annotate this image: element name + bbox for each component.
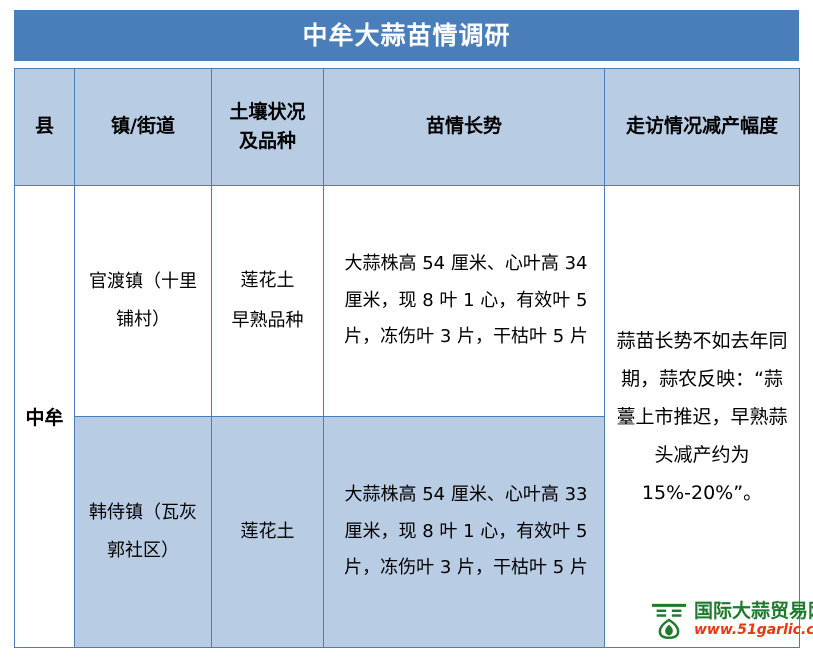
soil-type-label: 莲花土 [216,261,319,302]
column-header-county: 县 [15,69,75,186]
growth-description-text: 大蒜株高 54 厘米、心叶高 33 厘米，现 8 叶 1 心，有效叶 5 片，冻… [344,484,588,579]
table-row: 中牟 官渡镇（十里铺村） 莲花土 早熟品种 大蒜株高 54 厘米、心叶高 34 … [15,186,800,417]
page-title-bar: 中牟大蒜苗情调研 [14,10,799,61]
cell-county-zhongmou: 中牟 [15,186,75,648]
town-name-label: 韩侍镇（瓦灰郭社区） [89,502,197,561]
table-header-row: 县 镇/街道 土壤状况 及品种 苗情长势 走访情况减产幅度 [15,69,800,186]
column-header-growth-label: 苗情长势 [426,115,502,137]
column-header-loss-label: 走访情况减产幅度 [626,115,778,137]
cell-growth-row1: 大蒜株高 54 厘米、心叶高 34 厘米，现 8 叶 1 心，有效叶 5 片，冻… [324,186,605,417]
cell-town-row1: 官渡镇（十里铺村） [75,186,212,417]
garlic-survey-table: 县 镇/街道 土壤状况 及品种 苗情长势 走访情况减产幅度 中牟 [14,68,800,648]
loss-description-text: 蒜苗长势不如去年同期，蒜农反映：“蒜薹上市推迟，早熟蒜头减产约为 15%-20%… [616,330,787,504]
cell-loss-description: 蒜苗长势不如去年同期，蒜农反映：“蒜薹上市推迟，早熟蒜头减产约为 15%-20%… [605,186,800,648]
growth-description-text: 大蒜株高 54 厘米、心叶高 34 厘米，现 8 叶 1 心，有效叶 5 片，冻… [344,253,588,348]
survey-table-page: 中牟大蒜苗情调研 县 镇/街道 土壤状况 及品种 [0,0,813,660]
soil-variety-label: 早熟品种 [216,301,319,342]
county-name-label: 中牟 [25,407,63,429]
cell-town-row2: 韩侍镇（瓦灰郭社区） [75,417,212,648]
cell-growth-row2: 大蒜株高 54 厘米、心叶高 33 厘米，现 8 叶 1 心，有效叶 5 片，冻… [324,417,605,648]
column-header-soil-label-line2: 及品种 [214,127,321,156]
column-header-soil-label-line1: 土壤状况 [214,98,321,127]
column-header-growth: 苗情长势 [324,69,605,186]
cell-soil-row2: 莲花土 [212,417,324,648]
page-title: 中牟大蒜苗情调研 [302,23,510,48]
column-header-soil: 土壤状况 及品种 [212,69,324,186]
soil-type-label: 莲花土 [216,512,319,553]
column-header-county-label: 县 [35,115,54,137]
column-header-loss: 走访情况减产幅度 [605,69,800,186]
column-header-town-label: 镇/街道 [111,115,175,137]
cell-soil-row1: 莲花土 早熟品种 [212,186,324,417]
column-header-town: 镇/街道 [75,69,212,186]
town-name-label: 官渡镇（十里铺村） [89,271,197,330]
